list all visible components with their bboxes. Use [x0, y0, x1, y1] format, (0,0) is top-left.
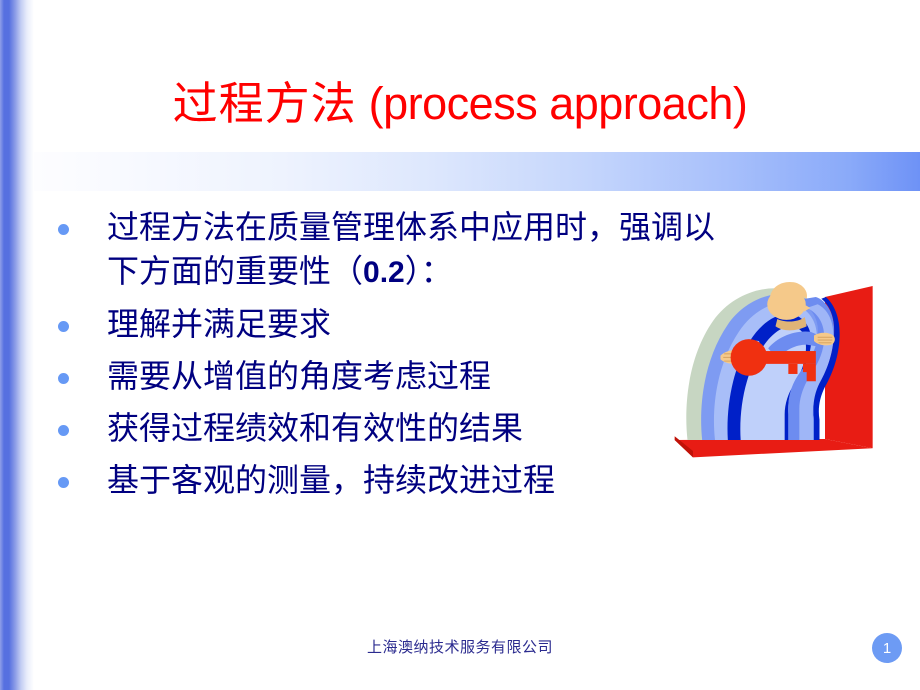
list-item: 需要从增值的角度考虑过程 [40, 354, 720, 398]
list-item-text: 获得过程绩效和有效性的结果 [107, 406, 720, 450]
list-item-text: 需要从增值的角度考虑过程 [107, 354, 720, 398]
list-item: 基于客观的测量，持续改进过程 [40, 458, 720, 502]
page-number-badge: 1 [872, 633, 902, 663]
page-title: 过程方法 (process approach) [0, 80, 920, 127]
title-divider-band [34, 152, 920, 191]
bullet-dot-icon [58, 224, 69, 235]
page-title-english: (process approach) [357, 78, 748, 129]
list-item: 获得过程绩效和有效性的结果 [40, 406, 720, 450]
bullet-list: 过程方法在质量管理体系中应用时，强调以下方面的重要性（0.2）： 理解并满足要求… [40, 205, 720, 510]
list-item-line-1: 过程方法在质量管理体系中应用时，强调 [107, 208, 683, 246]
bullet-dot-icon [58, 425, 69, 436]
bullet-dot-icon [58, 321, 69, 332]
list-item-text: 理解并满足要求 [107, 302, 720, 346]
list-item-line-2-suffix: ）： [405, 252, 453, 290]
list-item: 过程方法在质量管理体系中应用时，强调以下方面的重要性（0.2）： [40, 205, 720, 294]
footer-company: 上海澳纳技术服务有限公司 [0, 636, 920, 657]
slide-canvas: 过程方法 (process approach) 过程方法在质量管理体系中应用时，… [0, 0, 920, 690]
page-title-chinese: 过程方法 [173, 77, 357, 130]
list-item-text: 过程方法在质量管理体系中应用时，强调以下方面的重要性（0.2）： [107, 205, 720, 294]
bullet-dot-icon [58, 477, 69, 488]
clipart-person-with-key [660, 268, 880, 468]
bullet-dot-icon [58, 373, 69, 384]
list-item-text: 基于客观的测量，持续改进过程 [107, 458, 720, 502]
list-item: 理解并满足要求 [40, 302, 720, 346]
clause-number: 0.2 [363, 256, 405, 289]
